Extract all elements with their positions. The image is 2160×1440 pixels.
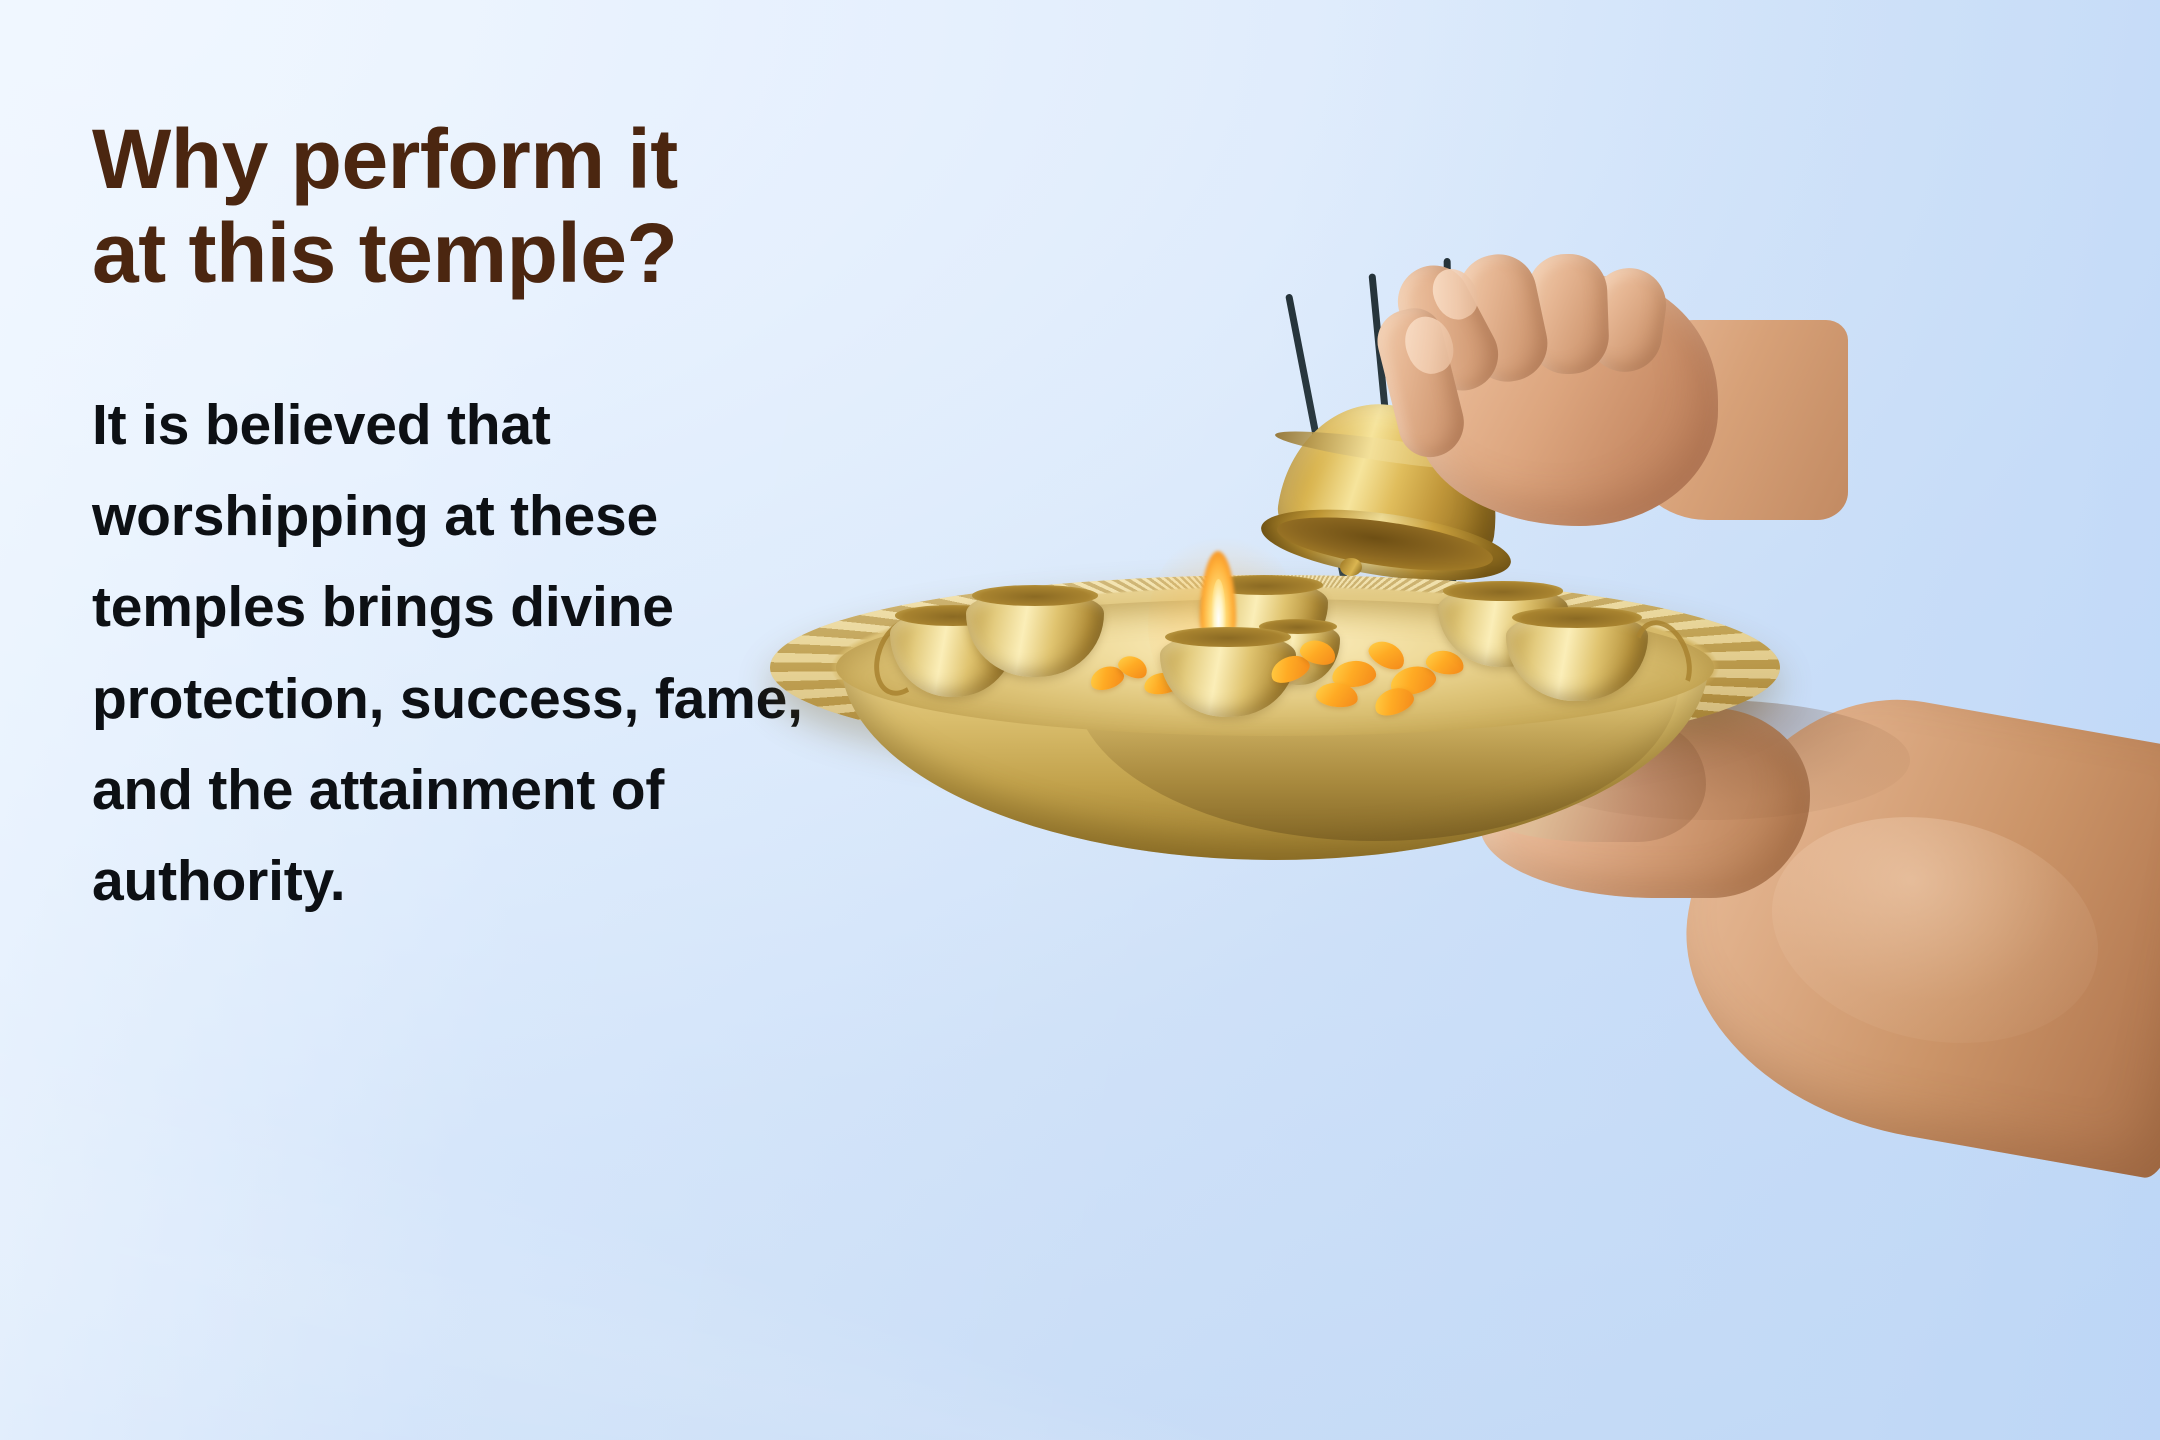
slide-canvas: Why perform it at this temple? It is bel… [0, 0, 2160, 1440]
brass-puja-thali [770, 575, 1780, 760]
marigold-flowers [1270, 631, 1480, 727]
bell-clapper [1340, 558, 1362, 576]
body-paragraph: It is believed that worshipping at these… [92, 380, 852, 927]
hand-holding-bell [1378, 250, 1738, 550]
text-column: Why perform it at this temple? It is bel… [92, 112, 1092, 300]
puja-photo [1060, 0, 2160, 1440]
page-title: Why perform it at this temple? [92, 112, 1092, 300]
